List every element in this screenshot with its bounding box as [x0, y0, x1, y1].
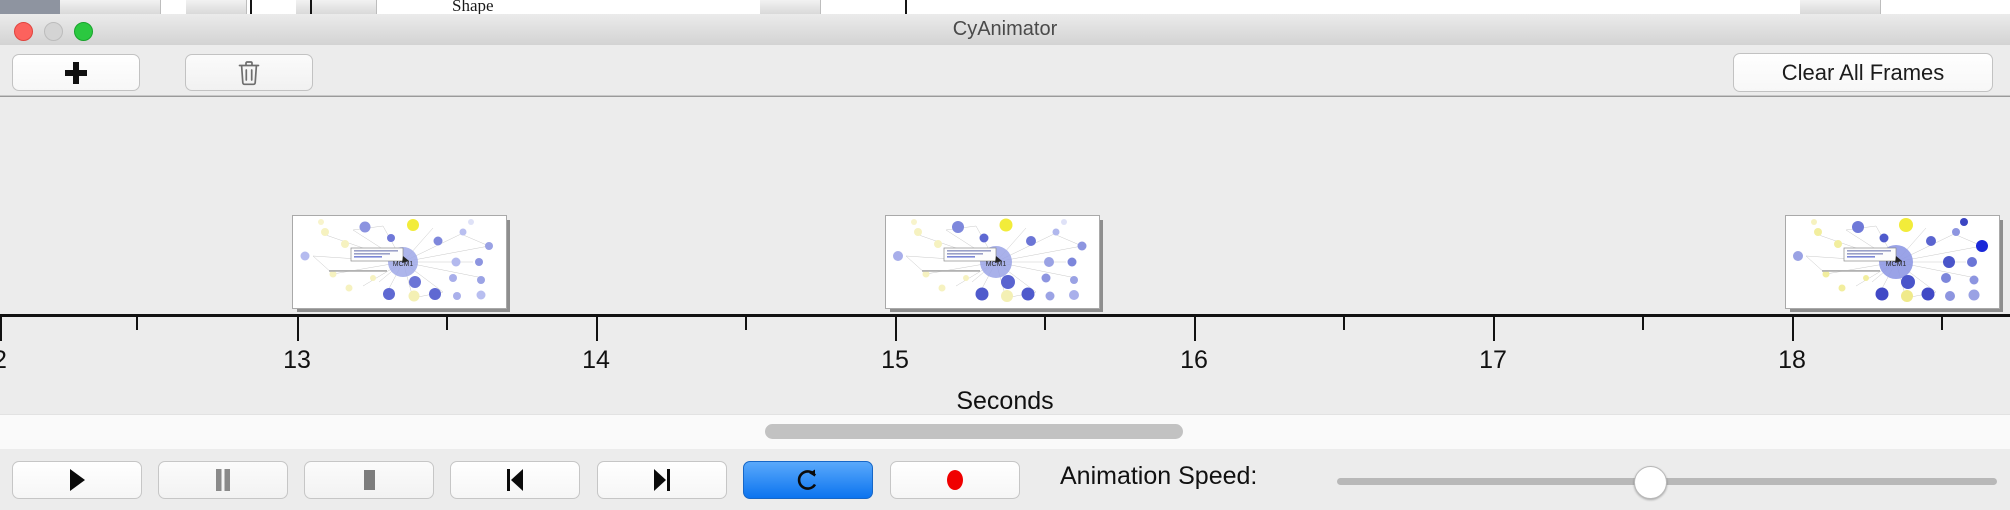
add-frame-button[interactable] — [12, 54, 140, 91]
axis-tick-major — [1194, 317, 1196, 341]
trash-icon — [237, 60, 261, 86]
axis-tick-label: 14 — [582, 346, 610, 375]
svg-text:MCM1: MCM1 — [393, 261, 414, 268]
axis-tick-major — [1792, 317, 1794, 341]
timeline-frame-1[interactable]: MCM1 — [292, 215, 510, 312]
play-icon — [67, 468, 87, 492]
axis-tick-minor — [1044, 317, 1046, 330]
background-window-chip — [60, 0, 161, 14]
axis-tick-major — [1493, 317, 1495, 341]
background-window-label: Shape — [452, 0, 494, 14]
skip-next-icon — [651, 468, 673, 492]
plus-icon — [65, 62, 87, 84]
scrollbar-thumb[interactable] — [765, 424, 1183, 439]
axis-tick-label: 13 — [283, 346, 311, 375]
background-window-chip — [186, 0, 247, 14]
clear-all-frames-button[interactable]: Clear All Frames — [1733, 53, 1993, 92]
axis-tick-major — [596, 317, 598, 341]
stop-button[interactable] — [304, 461, 434, 499]
timeline-frame-2[interactable]: MCM1 — [885, 215, 1103, 312]
axis-tick-major — [297, 317, 299, 341]
axis-tick-major — [0, 317, 2, 341]
previous-frame-button[interactable] — [450, 461, 580, 499]
axis-tick-label: 16 — [1180, 346, 1208, 375]
svg-text:MCM1: MCM1 — [986, 261, 1007, 268]
network-graph-thumbnail: MCM1 — [886, 216, 1099, 308]
timeline-axis: 2131415161718 Seconds — [0, 314, 2010, 414]
background-window-strip: Shape — [0, 0, 2010, 14]
window-title: CyAnimator — [0, 14, 2010, 45]
axis-tick-label: 18 — [1778, 346, 1806, 375]
loop-icon — [796, 467, 820, 493]
close-button[interactable] — [14, 22, 33, 41]
minimize-button[interactable] — [44, 22, 63, 41]
axis-line — [0, 314, 2010, 317]
frame-thumbnail: MCM1 — [292, 215, 507, 309]
zoom-button[interactable] — [74, 22, 93, 41]
play-button[interactable] — [12, 461, 142, 499]
background-window-chip — [0, 0, 61, 14]
timeline-scrollbar[interactable] — [0, 414, 2010, 450]
axis-tick-major — [895, 317, 897, 341]
next-frame-button[interactable] — [597, 461, 727, 499]
axis-tick-minor — [446, 317, 448, 330]
axis-tick-label: 17 — [1479, 346, 1507, 375]
clear-all-frames-label: Clear All Frames — [1782, 60, 1945, 86]
frame-thumbnail: MCM1 — [885, 215, 1100, 309]
timeline-frame-3[interactable]: MCM1 — [1785, 215, 2003, 312]
network-graph-thumbnail: MCM1 — [1786, 216, 1999, 308]
record-button[interactable] — [890, 461, 1020, 499]
background-window-chip — [760, 0, 821, 14]
svg-text:MCM1: MCM1 — [1886, 261, 1907, 268]
pause-button[interactable] — [158, 461, 288, 499]
axis-title: Seconds — [0, 387, 2010, 416]
record-icon — [943, 467, 967, 493]
delete-frame-button[interactable] — [185, 54, 313, 91]
frame-thumbnail: MCM1 — [1785, 215, 2000, 309]
axis-tick-label: 2 — [0, 346, 7, 375]
animation-speed-slider-thumb[interactable] — [1634, 466, 1667, 499]
network-graph-thumbnail: MCM1 — [293, 216, 506, 308]
loop-button[interactable] — [743, 461, 873, 499]
axis-tick-minor — [1343, 317, 1345, 330]
background-window-chip — [296, 0, 377, 14]
pause-icon — [213, 468, 233, 492]
stop-icon — [359, 468, 379, 492]
timeline-panel[interactable]: MCM1 — [0, 96, 2010, 315]
axis-tick-minor — [136, 317, 138, 330]
axis-tick-minor — [745, 317, 747, 330]
traffic-lights — [14, 22, 93, 41]
axis-tick-minor — [1642, 317, 1644, 330]
animation-speed-label: Animation Speed: — [1060, 462, 1257, 491]
animation-speed-slider[interactable] — [1337, 478, 1997, 485]
background-window-chip — [1800, 0, 1881, 14]
axis-tick-minor — [1941, 317, 1943, 330]
skip-previous-icon — [504, 468, 526, 492]
axis-tick-label: 15 — [881, 346, 909, 375]
title-bar[interactable]: CyAnimator — [0, 14, 2010, 46]
